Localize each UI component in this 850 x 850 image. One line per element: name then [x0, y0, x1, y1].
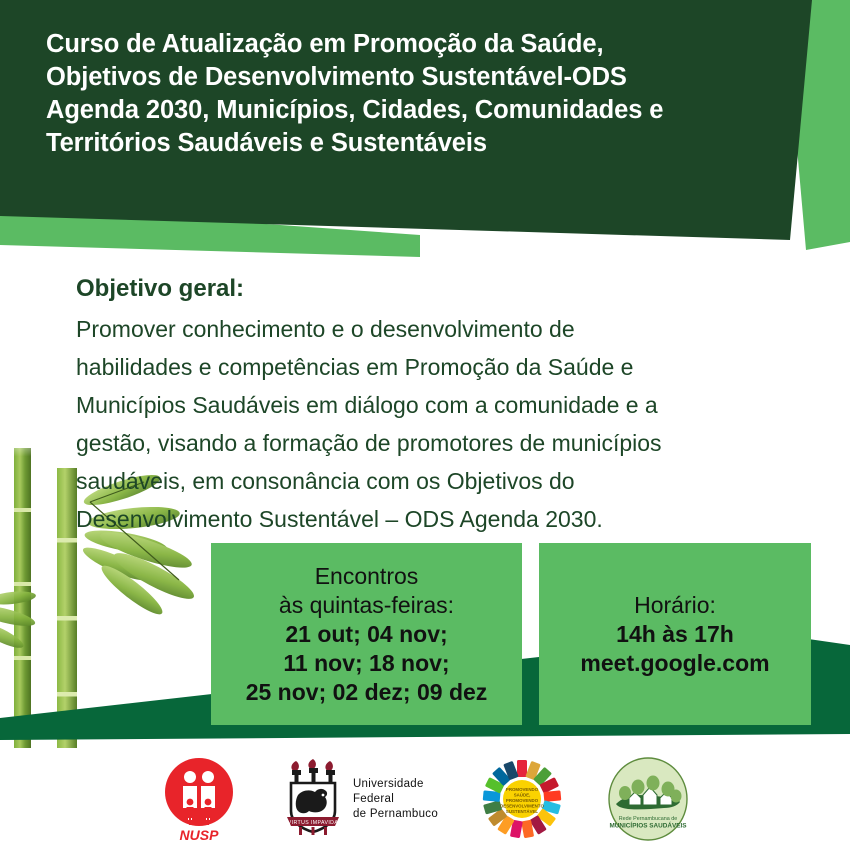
logo-rede-municipios: Rede Pernambucana de MUNICÍPIOS SAUDÁVEI…: [606, 756, 690, 842]
horario-box: Horário: 14h às 17h meet.google.com: [539, 543, 811, 725]
svg-text:SUSTENTÁVEL: SUSTENTÁVEL: [506, 809, 539, 814]
footer-logos: NUSP: [0, 748, 850, 850]
svg-text:PROMOVENDO: PROMOVENDO: [506, 798, 539, 803]
logo-nusp: NUSP: [160, 755, 238, 843]
encontros-line-2: às quintas-feiras:: [211, 591, 522, 620]
objetivo-line-5: saudáveis, em consonância com os Objetiv…: [76, 462, 806, 500]
nusp-icon: NUSP: [160, 755, 238, 843]
encontros-line-3: 21 out; 04 nov;: [211, 620, 522, 649]
poster-canvas: Curso de Atualização em Promoção da Saúd…: [0, 0, 850, 850]
horario-line-2: 14h às 17h: [539, 620, 811, 649]
rede-line-1: Rede Pernambucana de: [619, 816, 677, 822]
title-line-3: Agenda 2030, Municípios, Cidades, Comuni…: [46, 94, 766, 127]
objetivo-text: Promover conhecimento e o desenvolviment…: [76, 310, 806, 538]
svg-text:NUSP: NUSP: [180, 827, 220, 843]
title-line-1: Curso de Atualização em Promoção da Saúd…: [46, 28, 766, 61]
horario-line-1: Horário:: [539, 591, 811, 620]
svg-text:PROMOVENDO: PROMOVENDO: [506, 787, 539, 792]
encontros-line-5: 25 nov; 02 dez; 09 dez: [211, 678, 522, 707]
sdg-wheel-icon: PROMOVENDO SAÚDE, PROMOVENDO DESENVOLVIM…: [480, 757, 564, 841]
title-line-4: Territórios Saudáveis e Sustentáveis: [46, 127, 766, 160]
rede-municipios-saudaveis-icon: Rede Pernambucana de MUNICÍPIOS SAUDÁVEI…: [606, 756, 690, 842]
encontros-line-4: 11 nov; 18 nov;: [211, 649, 522, 678]
objetivo-block: Objetivo geral: Promover conhecimento e …: [76, 272, 806, 538]
ufpe-line-3: de Pernambuco: [353, 807, 438, 822]
page-title: Curso de Atualização em Promoção da Saúd…: [46, 28, 766, 160]
objetivo-line-6: Desenvolvimento Sustentável – ODS Agenda…: [76, 500, 806, 538]
objetivo-line-2: habilidades e competências em Promoção d…: [76, 348, 806, 386]
encontros-line-1: Encontros: [211, 562, 522, 591]
logo-sdg-wheel: PROMOVENDO SAÚDE, PROMOVENDO DESENVOLVIM…: [480, 757, 564, 841]
objetivo-line-4: gestão, visando a formação de promotores…: [76, 424, 806, 462]
rede-line-2: MUNICÍPIOS SAUDÁVEIS: [610, 821, 688, 830]
objetivo-line-1: Promover conhecimento e o desenvolviment…: [76, 310, 806, 348]
ufpe-wordmark: Universidade Federal de Pernambuco: [353, 777, 438, 822]
ufpe-crest-icon: VIRTUS IMPAVIDA: [280, 757, 346, 841]
svg-text:SAÚDE,: SAÚDE,: [514, 793, 531, 798]
objetivo-line-3: Municípios Saudáveis em diálogo com a co…: [76, 386, 806, 424]
ufpe-line-2: Federal: [353, 792, 438, 807]
ufpe-motto: VIRTUS IMPAVIDA: [288, 820, 339, 826]
ufpe-line-1: Universidade: [353, 777, 438, 792]
meet-link[interactable]: meet.google.com: [539, 649, 811, 678]
svg-text:DESENVOLVIMENTO: DESENVOLVIMENTO: [500, 804, 544, 809]
title-line-2: Objetivos de Desenvolvimento Sustentável…: [46, 61, 766, 94]
objetivo-label: Objetivo geral:: [76, 272, 806, 306]
logo-ufpe: VIRTUS IMPAVIDA Universidade Federal de …: [280, 757, 438, 841]
encontros-box: Encontros às quintas-feiras: 21 out; 04 …: [211, 543, 522, 725]
